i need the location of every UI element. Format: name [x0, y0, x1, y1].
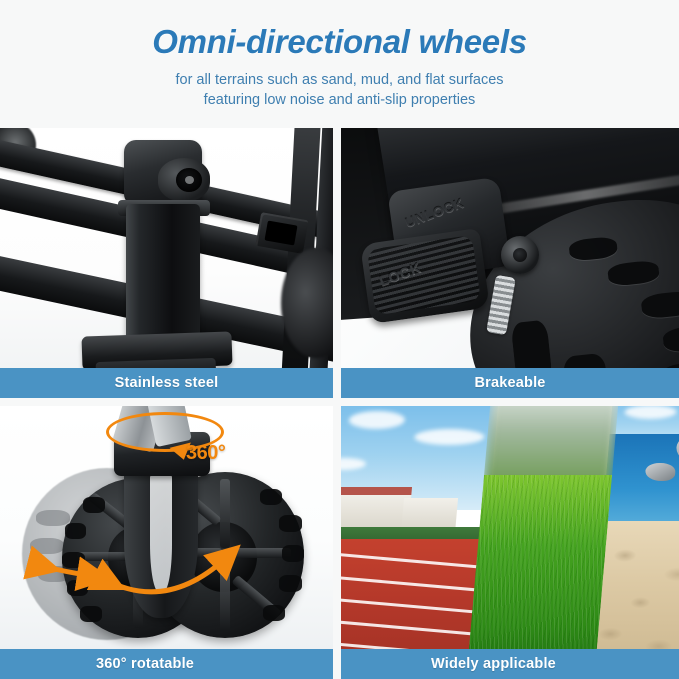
caption-stainless-steel: Stainless steel [0, 368, 333, 398]
subtitle-line-1: for all terrains such as sand, mud, and … [0, 70, 679, 90]
infographic-page: Omni-directional wheels for all terrains… [0, 0, 679, 679]
subtitle-line-2: featuring low noise and anti-slip proper… [0, 90, 679, 110]
grass-texture [466, 475, 612, 649]
track-surface [341, 539, 486, 649]
panel-brakeable: UNLOCK LOCK Brakeable [341, 128, 679, 398]
caption-rotatable: 360° rotatable [0, 649, 333, 679]
panel-widely-applicable: Widely applicable [341, 406, 679, 679]
photo-rotatable: 360° [0, 406, 333, 649]
panel-rotatable: 360° 360° rotatable [0, 406, 333, 679]
page-subtitle: for all terrains such as sand, mud, and … [0, 70, 679, 110]
terrain-grass [466, 406, 619, 649]
page-title: Omni-directional wheels [0, 22, 679, 62]
panel-stainless-steel: Stainless steel [0, 128, 333, 398]
photo-brakeable: UNLOCK LOCK [341, 128, 679, 368]
vertical-post [126, 204, 200, 354]
pivot-bolt [501, 236, 539, 274]
header: Omni-directional wheels for all terrains… [0, 0, 679, 128]
grass-surface [466, 475, 612, 649]
caption-brakeable: Brakeable [341, 368, 679, 398]
photo-stainless-steel [0, 128, 333, 368]
feature-grid: Stainless steel UNLOCK [0, 128, 679, 679]
direction-arrows-icon [0, 406, 333, 649]
photo-widely-applicable [341, 406, 679, 649]
caption-widely-applicable: Widely applicable [341, 649, 679, 679]
building-roof [341, 487, 412, 496]
caster-bore-icon [176, 168, 202, 192]
